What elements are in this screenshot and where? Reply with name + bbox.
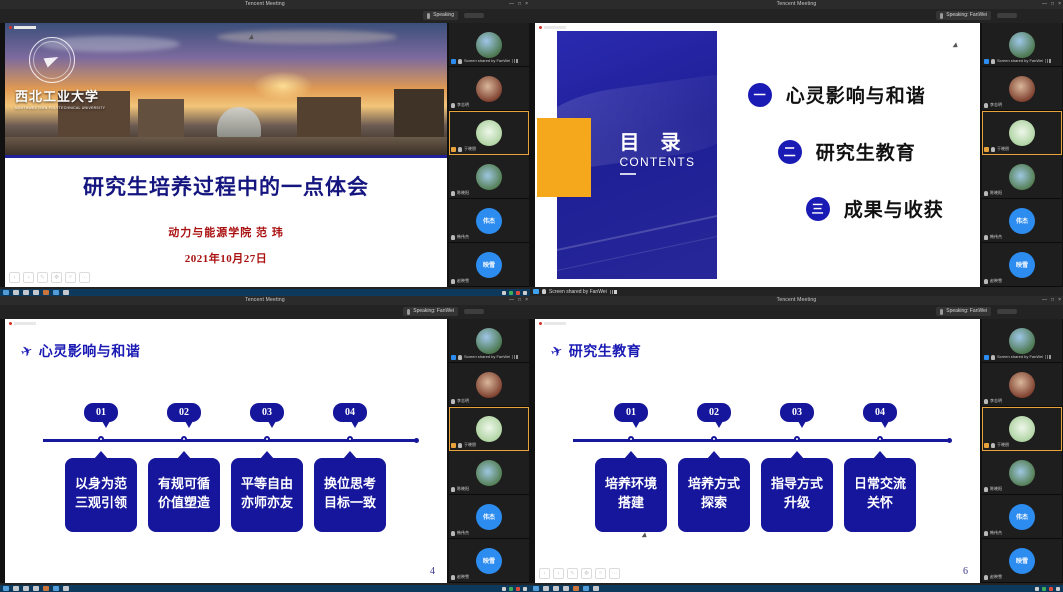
participant-name: 李志明 [457, 102, 469, 108]
window-title: Tencent Meeting [245, 296, 285, 305]
network-signal-icon [1045, 59, 1051, 63]
building-shape [394, 89, 444, 137]
app-icon[interactable] [43, 290, 49, 295]
avatar [476, 416, 502, 442]
timeline-node[interactable]: 03 平等自由 亦师亦友 [231, 403, 303, 422]
participant-name: Screen shared by FanWei [997, 354, 1043, 360]
tray-icon[interactable] [502, 587, 506, 591]
network-signal-icon [512, 59, 518, 63]
participant-tile[interactable]: 李志明 [982, 67, 1062, 111]
participant-meta: 韩伟杰 [451, 530, 469, 536]
university-logo: 西北工业大学 NORTHWESTERN POLYTECHNICAL UNIVER… [15, 37, 109, 110]
participant-meta: 陈晓阳 [451, 190, 469, 196]
screen-share-icon [533, 289, 539, 294]
screen-share-icon [984, 355, 989, 360]
tray-icon[interactable] [1042, 587, 1046, 591]
participant-meta: Screen shared by FanWei [984, 58, 1051, 64]
participant-tile[interactable]: 映雪 赵映雪 [982, 243, 1062, 287]
shared-screen-stage[interactable]: ✈ 研究生教育 01 培养环境 搭建 02 [535, 319, 980, 583]
slide-page-number: 6 [963, 566, 968, 577]
meeting-topbar: Speaking: FanWei [0, 305, 530, 319]
app-icon[interactable] [43, 586, 49, 591]
app-icon[interactable] [53, 290, 59, 295]
taskview-icon[interactable] [23, 586, 29, 591]
timeline-node[interactable]: 01 以身为范 三观引领 [65, 403, 137, 422]
participant-meta: 赵映雪 [984, 574, 1002, 580]
contents-item-label: 心灵影响与和谐 [786, 81, 926, 108]
taskview-icon[interactable] [23, 290, 29, 295]
avatar: 伟杰 [476, 504, 502, 530]
screen-share-icon [984, 59, 989, 64]
participant-meta: Screen shared by FanWei [451, 58, 518, 64]
pointer-icon[interactable]: ✥ [581, 568, 592, 579]
contents-item[interactable]: 一 心灵影响与和谐 [748, 81, 967, 108]
microphone-icon [984, 103, 988, 108]
divider-rule [5, 155, 447, 158]
timeline-card-line1: 平等自由 [241, 476, 293, 495]
contents-item[interactable]: 二 研究生教育 [778, 138, 967, 165]
microphone-icon [451, 191, 455, 196]
participant-name: 赵映雪 [457, 574, 469, 580]
app-icon[interactable] [53, 586, 59, 591]
start-button-icon[interactable] [533, 586, 539, 591]
taskview-icon[interactable] [553, 586, 559, 591]
participant-tile[interactable]: 映雪 赵映雪 [449, 539, 529, 583]
close-button[interactable]: × [1058, 0, 1061, 9]
screen-share-icon [451, 59, 456, 64]
prev-slide-icon[interactable]: ‹ [9, 272, 20, 283]
participant-rail[interactable]: Screen shared by FanWei 李志明 [449, 23, 529, 287]
microphone-icon [991, 147, 995, 152]
participant-tile[interactable]: 伟杰 韩伟杰 [982, 495, 1062, 539]
minimize-button[interactable]: — [1042, 296, 1047, 305]
slide-subtitle: 动力与能源学院 范 玮 [5, 224, 447, 240]
timeline-card-line2: 升级 [784, 495, 810, 514]
contents-item-label: 成果与收获 [844, 195, 944, 222]
timeline-number: 02 [697, 403, 731, 422]
meeting-controls-placeholder[interactable] [997, 309, 1017, 314]
participant-meta: 陈晓阳 [984, 190, 1002, 196]
meeting-topbar: Speaking: FanWei [530, 9, 1063, 23]
next-slide-icon[interactable]: › [23, 272, 34, 283]
window-body: Speaking: FanWei ✈ 心灵影响与和谐 01 以身为范 [0, 305, 530, 592]
participant-tile[interactable]: 于晓朋 [982, 407, 1062, 451]
participant-name: 赵映雪 [990, 278, 1002, 284]
participant-meta: Screen shared by FanWei [984, 354, 1051, 360]
participant-meta: 韩伟杰 [451, 234, 469, 240]
building-shape [138, 99, 184, 137]
window-body: Speaking [0, 9, 530, 296]
timeline-dot [628, 436, 634, 442]
ppt-toolbar[interactable]: ‹ › ✎ ✥ ⌕ ⋯ [539, 568, 620, 579]
participant-name: 韩伟杰 [990, 234, 1002, 240]
tray-icon[interactable] [516, 587, 520, 591]
slide-title: 研究生培养过程中的一点体会 [5, 171, 447, 201]
start-button-icon[interactable] [3, 586, 9, 591]
microphone-icon [451, 399, 455, 404]
timeline-card[interactable]: 指导方式 升级 [761, 458, 833, 532]
tray-icon[interactable] [523, 291, 527, 295]
avatar [1009, 328, 1035, 354]
panel-bottom-left: Tencent Meeting — □ × Speaking: FanWei ✈… [0, 296, 530, 592]
participant-meta: Screen shared by FanWei [451, 354, 518, 360]
pen-icon[interactable]: ✎ [567, 568, 578, 579]
close-button[interactable]: × [525, 0, 528, 9]
participant-rail[interactable]: Screen shared by FanWei 李志明 [449, 319, 529, 583]
pointer-icon[interactable]: ✥ [51, 272, 62, 283]
maximize-button[interactable]: □ [1051, 296, 1054, 305]
shared-screen-stage[interactable]: 目 录 CONTENTS 一 心灵影响与和谐 二 研究生教育 三 [535, 23, 980, 287]
tray-icon[interactable] [1035, 587, 1039, 591]
contents-item[interactable]: 三 成果与收获 [806, 195, 967, 222]
plaza-ground [5, 137, 447, 155]
slide-title: 研究生教育 [569, 341, 642, 361]
timeline-dot [264, 436, 270, 442]
participant-tile[interactable]: 陈晓阳 [449, 155, 529, 199]
explorer-icon[interactable] [33, 290, 39, 295]
timeline-card[interactable]: 换位思考 目标一致 [314, 458, 386, 532]
cloud-shape [217, 30, 397, 44]
microphone-icon [451, 103, 455, 108]
pen-icon[interactable]: ✎ [37, 272, 48, 283]
participant-tile[interactable]: Screen shared by FanWei [982, 319, 1062, 363]
timeline-card-line1: 有规可循 [158, 476, 210, 495]
participant-tile[interactable]: 于晓朋 [449, 407, 529, 451]
timeline-card[interactable]: 以身为范 三观引领 [65, 458, 137, 532]
timeline-dot [877, 436, 883, 442]
timeline-number: 04 [333, 403, 367, 422]
more-icon[interactable]: ⋯ [609, 568, 620, 579]
avatar [476, 328, 502, 354]
participant-meta: 陈晓阳 [451, 486, 469, 492]
accent-block [537, 118, 590, 197]
screen-share-icon [451, 355, 456, 360]
system-tray[interactable] [502, 587, 530, 591]
share-status-bar: Screen shared by FanWei [530, 287, 1063, 296]
timeline-nodes: 01 以身为范 三观引领 02 有规可循 价值塑造 [43, 403, 417, 553]
app-icon[interactable] [573, 586, 579, 591]
close-button[interactable]: × [1058, 296, 1061, 305]
meeting-controls-placeholder[interactable] [464, 309, 484, 314]
app-icon[interactable] [583, 586, 589, 591]
participant-meta: 赵映雪 [451, 278, 469, 284]
building-shape [297, 97, 361, 137]
window-title: Tencent Meeting [245, 0, 285, 9]
minimize-button[interactable]: — [1042, 0, 1047, 9]
speaking-label: Speaking [433, 12, 454, 19]
explorer-icon[interactable] [33, 586, 39, 591]
university-name-cn: 西北工业大学 [15, 86, 109, 105]
tray-icon[interactable] [1056, 587, 1060, 591]
window-controls: — □ × [1042, 296, 1061, 305]
timeline-node[interactable]: 04 换位思考 目标一致 [314, 403, 386, 422]
participant-name: 于晓朋 [997, 146, 1009, 152]
timeline-card[interactable]: 培养环境 搭建 [595, 458, 667, 532]
app-icon[interactable] [63, 586, 69, 591]
timeline-card-line2: 探索 [701, 495, 727, 514]
participant-name: Screen shared by FanWei [464, 58, 510, 64]
timeline-number: 01 [84, 403, 118, 422]
slide-date: 2021年10月27日 [5, 250, 447, 266]
avatar [1009, 460, 1035, 486]
participant-name: 陈晓阳 [457, 190, 469, 196]
timeline-card-line1: 换位思考 [324, 476, 376, 495]
start-button-icon[interactable] [3, 290, 9, 295]
timeline-node[interactable]: 02 有规可循 价值塑造 [148, 403, 220, 422]
panel-top-right: Tencent Meeting — □ × Speaking: FanWei [530, 0, 1063, 296]
speaking-indicator: Speaking: FanWei [936, 11, 991, 20]
participant-tile[interactable]: Screen shared by FanWei [449, 23, 529, 67]
shared-screen-stage[interactable]: 西北工业大学 NORTHWESTERN POLYTECHNICAL UNIVER… [5, 23, 447, 287]
speaking-indicator: Speaking: FanWei [936, 307, 991, 316]
timeline-node[interactable]: 01 培养环境 搭建 [595, 403, 667, 422]
meeting-controls-placeholder[interactable] [464, 13, 484, 18]
participant-name: 韩伟杰 [457, 234, 469, 240]
timeline-card[interactable]: 平等自由 亦师亦友 [231, 458, 303, 532]
participant-tile[interactable]: 陈晓阳 [982, 155, 1062, 199]
participant-meta: 韩伟杰 [984, 530, 1002, 536]
participant-name: 于晓朋 [997, 442, 1009, 448]
timeline-card-line1: 培养环境 [605, 476, 657, 495]
zoom-icon[interactable]: ⌕ [65, 272, 76, 283]
share-status-text: Screen shared by FanWei [549, 288, 607, 296]
raise-hand-icon [984, 443, 989, 448]
titlebar: Tencent Meeting — □ × [0, 296, 530, 305]
microphone-icon [458, 355, 462, 360]
slide-page-number: 4 [430, 566, 435, 577]
minimize-button[interactable]: — [509, 0, 514, 9]
participant-tile[interactable]: 陈晓阳 [982, 451, 1062, 495]
avatar [476, 164, 502, 190]
windows-taskbar[interactable] [530, 585, 1063, 592]
window-title: Tencent Meeting [777, 296, 817, 305]
titlebar: Tencent Meeting — □ × [530, 0, 1063, 9]
search-icon[interactable] [13, 290, 19, 295]
titlebar: Tencent Meeting — □ × [530, 296, 1063, 305]
microphone-icon [407, 309, 410, 315]
microphone-icon [984, 191, 988, 196]
timeline-card[interactable]: 培养方式 探索 [678, 458, 750, 532]
microphone-icon [451, 279, 455, 284]
explorer-icon[interactable] [563, 586, 569, 591]
ppt-toolbar[interactable]: ‹ › ✎ ✥ ⌕ ⋯ [9, 272, 90, 283]
participant-name: 陈晓阳 [990, 190, 1002, 196]
audio-level-icon [610, 290, 617, 294]
tray-icon[interactable] [523, 587, 527, 591]
timeline-node[interactable]: 03 指导方式 升级 [761, 403, 833, 422]
avatar: 映雪 [1009, 252, 1035, 278]
avatar [1009, 76, 1035, 102]
speaking-label: Speaking: FanWei [946, 12, 987, 19]
participant-meta: 于晓朋 [984, 146, 1009, 152]
avatar: 伟杰 [476, 208, 502, 234]
microphone-icon [451, 235, 455, 240]
microphone-icon [940, 309, 943, 315]
system-tray[interactable] [1035, 587, 1063, 591]
window-controls: — □ × [509, 296, 528, 305]
windows-taskbar[interactable] [0, 289, 530, 296]
participant-name: 于晓朋 [464, 146, 476, 152]
microphone-icon [984, 531, 988, 536]
timeline-dot [711, 436, 717, 442]
avatar [476, 32, 502, 58]
recording-indicator [9, 26, 36, 29]
avatar [1009, 164, 1035, 190]
timeline-node[interactable]: 02 培养方式 探索 [678, 403, 750, 422]
timeline-number: 01 [614, 403, 648, 422]
avatar [1009, 32, 1035, 58]
participant-tile[interactable]: 映雪 赵映雪 [449, 243, 529, 287]
timeline-card-line1: 指导方式 [771, 476, 823, 495]
dome-building-shape [217, 107, 261, 137]
timeline-card-line2: 目标一致 [324, 495, 376, 514]
window-controls: — □ × [509, 0, 528, 9]
participant-rail[interactable]: Screen shared by FanWei 李志明 [982, 23, 1062, 287]
avatar [1009, 372, 1035, 398]
participant-meta: 李志明 [984, 398, 1002, 404]
participant-tile[interactable]: 陈晓阳 [449, 451, 529, 495]
tray-icon[interactable] [1049, 587, 1053, 591]
university-seal-icon [29, 37, 75, 83]
network-signal-icon [512, 355, 518, 359]
app-icon[interactable] [593, 586, 599, 591]
meeting-topbar: Speaking: FanWei [530, 305, 1063, 319]
more-icon[interactable]: ⋯ [79, 272, 90, 283]
maximize-button[interactable]: □ [518, 0, 521, 9]
zoom-icon[interactable]: ⌕ [595, 568, 606, 579]
system-tray[interactable] [502, 291, 530, 295]
microphone-icon [458, 147, 462, 152]
maximize-button[interactable]: □ [518, 296, 521, 305]
participant-tile[interactable]: Screen shared by FanWei [982, 23, 1062, 67]
search-icon[interactable] [13, 586, 19, 591]
participant-name: 韩伟杰 [990, 530, 1002, 536]
timeline-dot [347, 436, 353, 442]
participant-name: Screen shared by FanWei [997, 58, 1043, 64]
participant-tile[interactable]: 于晓朋 [982, 111, 1062, 155]
windows-taskbar[interactable] [0, 585, 530, 592]
minimize-button[interactable]: — [509, 296, 514, 305]
tray-icon[interactable] [502, 291, 506, 295]
maximize-button[interactable]: □ [1051, 0, 1054, 9]
avatar: 映雪 [476, 252, 502, 278]
avatar [476, 76, 502, 102]
participant-tile[interactable]: 映雪 赵映雪 [982, 539, 1062, 583]
recording-indicator [9, 322, 36, 325]
contents-heading-cn: 目 录 [620, 131, 696, 153]
participant-tile[interactable]: 李志明 [449, 363, 529, 407]
timeline-card[interactable]: 日常交流 关怀 [844, 458, 916, 532]
close-button[interactable]: × [525, 296, 528, 305]
tray-icon[interactable] [509, 291, 513, 295]
microphone-icon [984, 279, 988, 284]
shared-screen-stage[interactable]: ✈ 心灵影响与和谐 01 以身为范 三观引领 02 [5, 319, 447, 583]
network-signal-icon [1045, 355, 1051, 359]
panel-bottom-right: Tencent Meeting — □ × Speaking: FanWei ✈… [530, 296, 1063, 592]
microphone-icon [542, 289, 546, 294]
university-name-en: NORTHWESTERN POLYTECHNICAL UNIVERSITY [15, 106, 109, 110]
participant-tile[interactable]: 李志明 [449, 67, 529, 111]
next-slide-icon[interactable]: › [553, 568, 564, 579]
contents-badge: 一 [748, 83, 772, 107]
participant-meta: 韩伟杰 [984, 234, 1002, 240]
tray-icon[interactable] [509, 587, 513, 591]
participant-name: 李志明 [990, 398, 1002, 404]
search-icon[interactable] [543, 586, 549, 591]
timeline-card-line2: 三观引领 [75, 495, 127, 514]
avatar [1009, 416, 1035, 442]
tray-icon[interactable] [516, 291, 520, 295]
slide-title: 心灵影响与和谐 [39, 341, 141, 361]
airplane-icon: ✈ [18, 341, 35, 361]
timeline-number: 03 [250, 403, 284, 422]
speaking-indicator: Speaking: FanWei [403, 307, 458, 316]
prev-slide-icon[interactable]: ‹ [539, 568, 550, 579]
timeline-node[interactable]: 04 日常交流 关怀 [844, 403, 916, 422]
participant-tile[interactable]: Screen shared by FanWei [449, 319, 529, 363]
contents-list: 一 心灵影响与和谐 二 研究生教育 三 成果与收获 [740, 81, 967, 252]
participant-tile[interactable]: 伟杰 韩伟杰 [982, 199, 1062, 243]
timeline-nodes: 01 培养环境 搭建 02 培养方式 探索 [573, 403, 950, 553]
timeline-card-line1: 培养方式 [688, 476, 740, 495]
timeline-number: 03 [780, 403, 814, 422]
microphone-icon [458, 443, 462, 448]
participant-meta: 李志明 [451, 102, 469, 108]
microphone-icon [451, 487, 455, 492]
meeting-controls-placeholder[interactable] [997, 13, 1017, 18]
avatar [1009, 120, 1035, 146]
microphone-icon [427, 13, 430, 19]
avatar: 伟杰 [1009, 208, 1035, 234]
microphone-icon [991, 355, 995, 360]
participant-name: Screen shared by FanWei [464, 354, 510, 360]
participant-tile[interactable]: 李志明 [982, 363, 1062, 407]
avatar: 伟杰 [1009, 504, 1035, 530]
participant-meta: 赵映雪 [984, 278, 1002, 284]
participant-rail[interactable]: Screen shared by FanWei 李志明 [982, 319, 1062, 583]
decor-streak [557, 235, 717, 273]
titlebar: Tencent Meeting — □ × [0, 0, 530, 9]
participant-name: 李志明 [990, 102, 1002, 108]
timeline-card-line2: 搭建 [618, 495, 644, 514]
microphone-icon [984, 399, 988, 404]
timeline-card[interactable]: 有规可循 价值塑造 [148, 458, 220, 532]
participant-meta: 于晓朋 [984, 442, 1009, 448]
participant-name: 韩伟杰 [457, 530, 469, 536]
raise-hand-icon [451, 147, 456, 152]
participant-tile[interactable]: 伟杰 韩伟杰 [449, 495, 529, 539]
heading-underline [620, 173, 636, 175]
timeline-card-line1: 以身为范 [75, 476, 127, 495]
app-icon[interactable] [63, 290, 69, 295]
participant-meta: 李志明 [451, 398, 469, 404]
timeline-card-line2: 亦师亦友 [241, 495, 293, 514]
panel-top-left: Tencent Meeting — □ × Speaking [0, 0, 530, 296]
recording-indicator [539, 322, 566, 325]
timeline-card-line2: 关怀 [867, 495, 893, 514]
contents-item-label: 研究生教育 [816, 138, 916, 165]
timeline-card-line2: 价值塑造 [158, 495, 210, 514]
participant-meta: 赵映雪 [451, 574, 469, 580]
participant-tile[interactable]: 于晓朋 [449, 111, 529, 155]
participant-name: 陈晓阳 [457, 486, 469, 492]
timeline-number: 04 [863, 403, 897, 422]
microphone-icon [984, 487, 988, 492]
participant-tile[interactable]: 伟杰 韩伟杰 [449, 199, 529, 243]
avatar [476, 460, 502, 486]
speaking-label: Speaking: FanWei [413, 308, 454, 315]
participant-meta: 于晓朋 [451, 146, 476, 152]
